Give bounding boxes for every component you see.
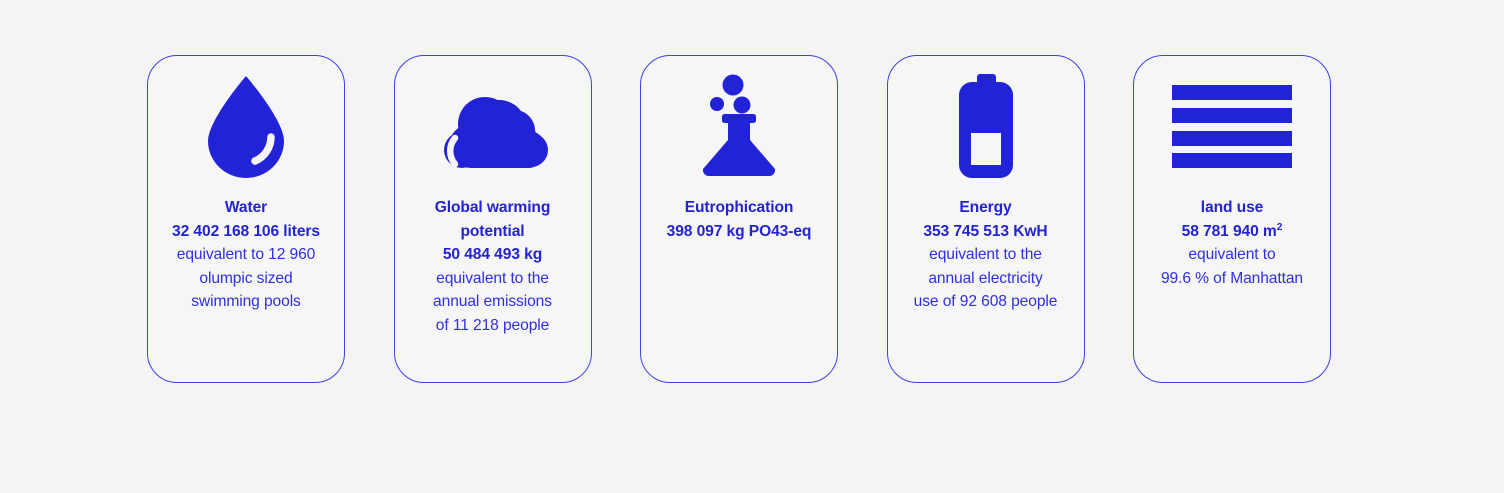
impact-card-global-warming-potential[interactable]: Global warming potential 50 484 493 kg e… [394,55,592,383]
card-equivalence-line-2: annual emissions [401,290,585,314]
card-equivalence-line-3: of 11 218 people [401,314,585,338]
battery-icon [888,56,1084,196]
card-equivalence-line-2: 99.6 % of Manhattan [1140,267,1324,291]
card-text-eutrophication: Eutrophication 398 097 kg PO43-eq [641,196,837,243]
land-bars-icon [1134,56,1330,196]
water-drop-icon [148,56,344,196]
card-value: 353 745 513 KwH [894,220,1078,244]
card-value-prefix: 58 781 940 m [1182,223,1277,240]
card-equivalence-line-1: equivalent to the [894,243,1078,267]
card-value: 58 781 940 m2 [1140,220,1324,244]
card-title: Water [154,196,338,220]
flask-icon [641,56,837,196]
card-equivalence-line-1: equivalent to 12 960 [154,243,338,267]
impact-card-water[interactable]: Water 32 402 168 106 liters equivalent t… [147,55,345,383]
card-text-land-use: land use 58 781 940 m2 equivalent to 99.… [1134,196,1330,290]
impact-card-land-use[interactable]: land use 58 781 940 m2 equivalent to 99.… [1133,55,1331,383]
card-text-global-warming-potential: Global warming potential 50 484 493 kg e… [395,196,591,337]
card-value: 50 484 493 kg [401,243,585,267]
card-equivalence-line-2: annual electricity [894,267,1078,291]
card-value: 32 402 168 106 liters [154,220,338,244]
cloud-icon [395,56,591,196]
card-value-superscript: 2 [1277,221,1283,232]
card-value: 398 097 kg PO43-eq [647,220,831,244]
card-equivalence-line-3: swimming pools [154,290,338,314]
impact-cards-row: Water 32 402 168 106 liters equivalent t… [147,55,1331,385]
card-text-energy: Energy 353 745 513 KwH equivalent to the… [888,196,1084,314]
card-title: land use [1140,196,1324,220]
impact-card-energy[interactable]: Energy 353 745 513 KwH equivalent to the… [887,55,1085,383]
card-equivalence-line-2: olumpic sized [154,267,338,291]
card-equivalence-line-3: use of 92 608 people [894,290,1078,314]
card-title-line-2: potential [401,220,585,244]
card-title: Energy [894,196,1078,220]
card-equivalence-line-1: equivalent to [1140,243,1324,267]
card-text-water: Water 32 402 168 106 liters equivalent t… [148,196,344,314]
card-equivalence-line-1: equivalent to the [401,267,585,291]
impact-metrics-board: Water 32 402 168 106 liters equivalent t… [0,0,1504,493]
card-title-line-1: Global warming [401,196,585,220]
impact-card-eutrophication[interactable]: Eutrophication 398 097 kg PO43-eq [640,55,838,383]
card-title: Eutrophication [647,196,831,220]
